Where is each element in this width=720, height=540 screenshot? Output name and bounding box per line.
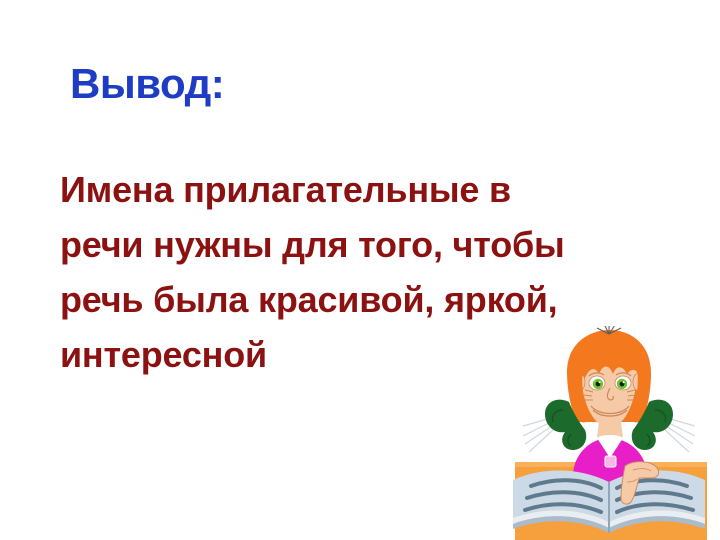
body-line: речи нужны для того, чтобы bbox=[60, 217, 680, 272]
slide-canvas: Вывод: Имена прилагательные в речи нужны… bbox=[0, 0, 720, 540]
body-line: Имена прилагательные в bbox=[60, 162, 680, 217]
girl-reading-book-image bbox=[505, 326, 715, 540]
page-title: Вывод: bbox=[70, 62, 224, 106]
body-line: речь была красивой, яркой, bbox=[60, 272, 680, 327]
